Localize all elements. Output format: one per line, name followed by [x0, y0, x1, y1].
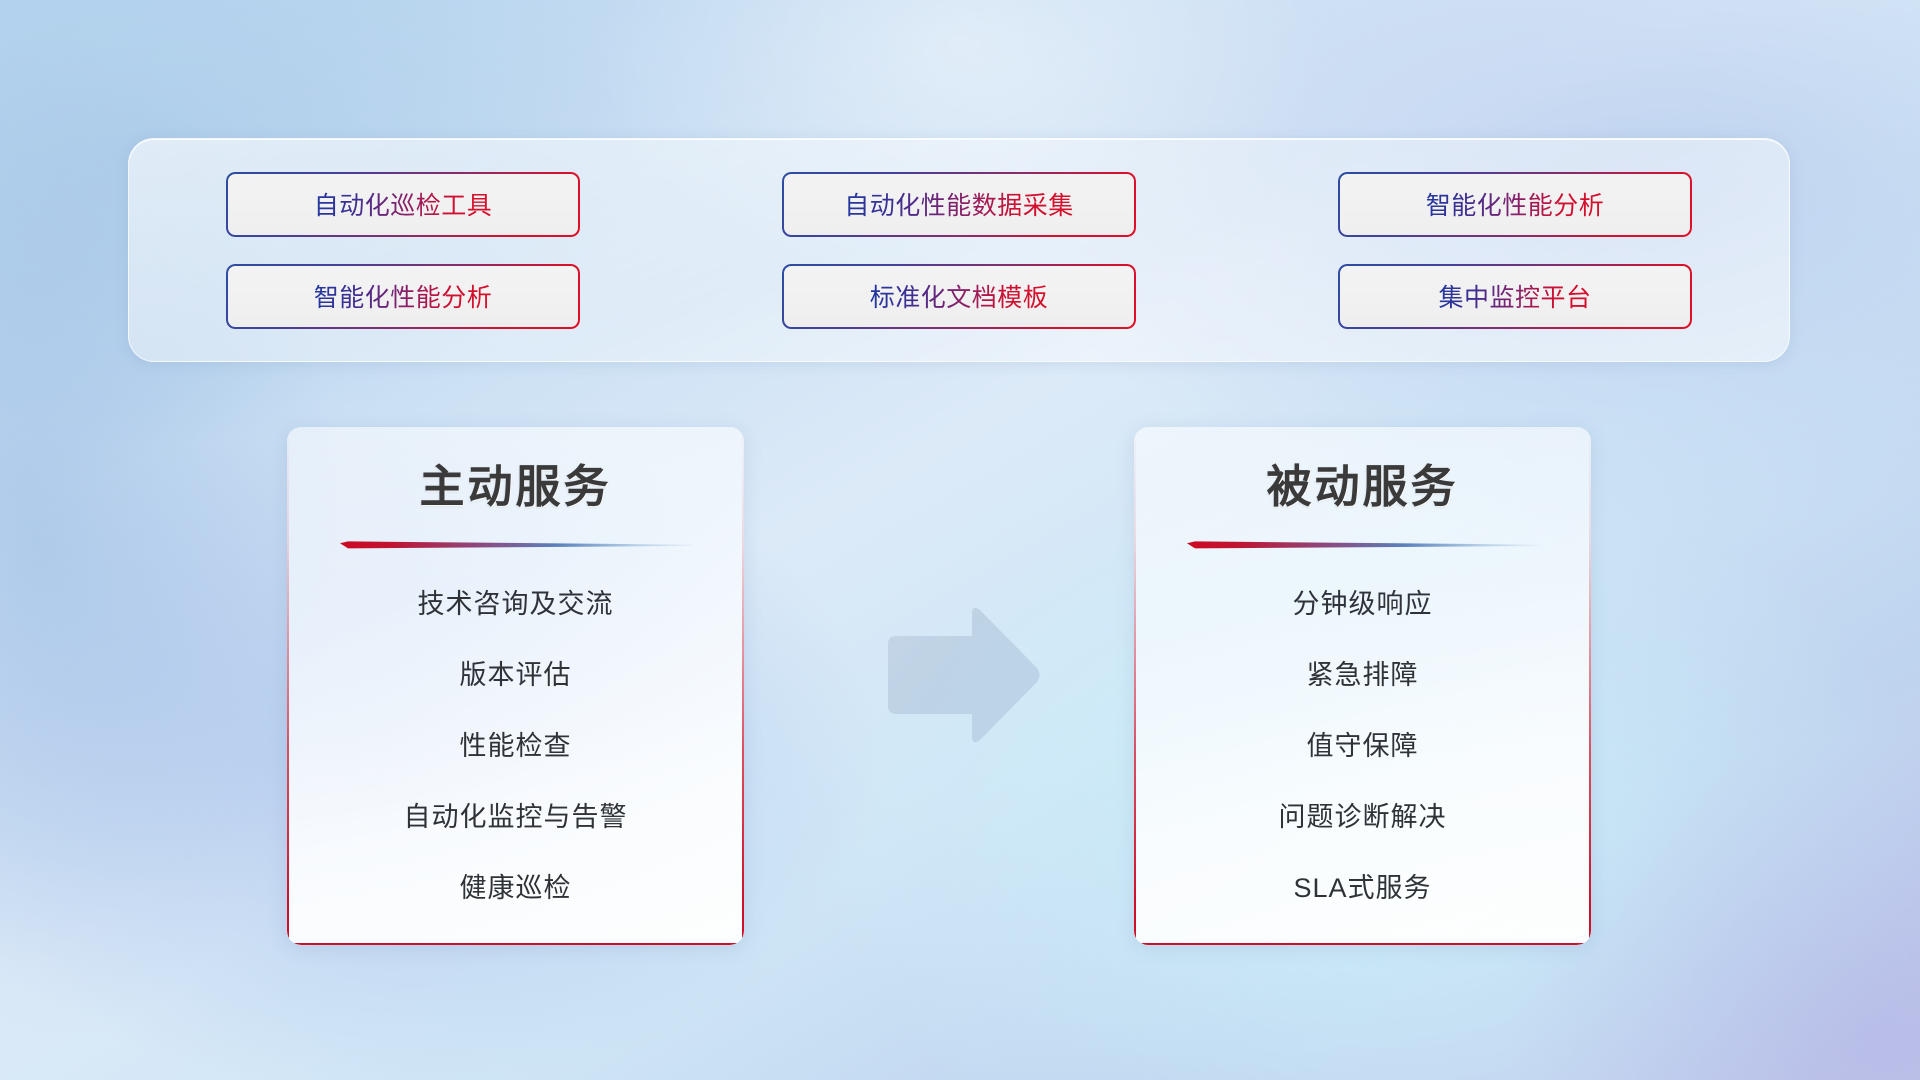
tools-panel: 自动化巡检工具 自动化性能数据采集 智能化性能分析 智能化性能分析 标准化文档模…: [128, 138, 1790, 362]
list-item[interactable]: 值守保障: [1134, 722, 1591, 771]
tool-tag-label: 集中监控平台: [1438, 278, 1591, 314]
tool-tag-label: 自动化性能数据采集: [844, 186, 1074, 222]
list-item[interactable]: 技术咨询及交流: [287, 580, 744, 629]
tool-tag-label: 标准化文档模板: [870, 278, 1049, 314]
card-divider-active: [340, 541, 692, 550]
tool-tag-3[interactable]: 智能化性能分析: [1338, 172, 1692, 237]
active-service-card: 主动服务 技术咨询及交流 版本评估 性能检查 自动化监控与告警 健康巡检: [287, 427, 744, 945]
active-service-title: 主动服务: [287, 450, 744, 515]
list-item[interactable]: SLA式服务: [1134, 864, 1591, 913]
list-item[interactable]: 健康巡检: [287, 864, 744, 913]
passive-service-title: 被动服务: [1134, 450, 1591, 515]
arrow-right-icon: [876, 604, 1042, 746]
card-divider-passive: [1187, 541, 1539, 550]
list-item[interactable]: 问题诊断解决: [1134, 793, 1591, 842]
list-item[interactable]: 版本评估: [287, 651, 744, 700]
tool-tag-4[interactable]: 智能化性能分析: [226, 264, 580, 329]
tool-tag-label: 自动化巡检工具: [314, 186, 493, 222]
list-item[interactable]: 分钟级响应: [1134, 580, 1591, 629]
list-item[interactable]: 紧急排障: [1134, 651, 1591, 700]
tool-tag-1[interactable]: 自动化巡检工具: [226, 172, 580, 237]
tool-tag-6[interactable]: 集中监控平台: [1338, 264, 1692, 329]
passive-service-list: 分钟级响应 紧急排障 值守保障 问题诊断解决 SLA式服务: [1134, 580, 1591, 913]
list-item[interactable]: 性能检查: [287, 722, 744, 771]
active-service-list: 技术咨询及交流 版本评估 性能检查 自动化监控与告警 健康巡检: [287, 580, 744, 913]
tool-tag-2[interactable]: 自动化性能数据采集: [782, 172, 1136, 237]
list-item[interactable]: 自动化监控与告警: [287, 793, 744, 842]
passive-service-card: 被动服务 分钟级响应 紧急排障 值守保障 问题诊断解决 SLA式服务: [1134, 427, 1591, 945]
tool-tag-label: 智能化性能分析: [314, 278, 493, 314]
tool-tag-label: 智能化性能分析: [1426, 186, 1605, 222]
tool-tag-5[interactable]: 标准化文档模板: [782, 264, 1136, 329]
